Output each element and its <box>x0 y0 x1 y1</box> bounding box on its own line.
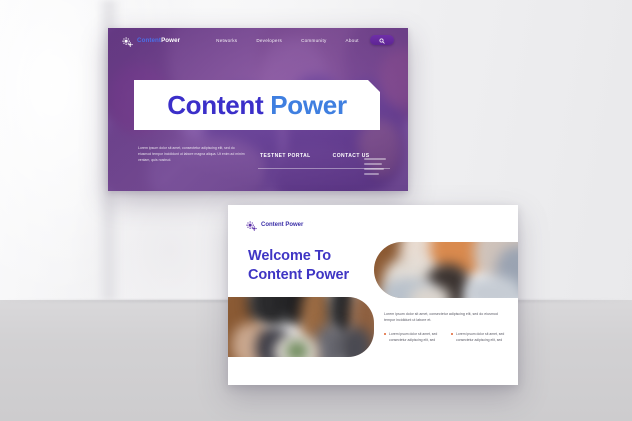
hero-title-banner: Content Power <box>134 80 380 130</box>
welcome-logo-text: Content Power <box>261 222 303 228</box>
hero-slide[interactable]: ContentPower Networks Developers Communi… <box>108 28 408 191</box>
hero-brand-word1: Content <box>137 37 161 44</box>
welcome-heading-line2: Content Power <box>248 266 349 285</box>
hero-title: Content Power <box>167 90 347 121</box>
bullet-dot-icon <box>451 333 453 335</box>
hero-title-word2: Power <box>270 90 347 120</box>
nav-link-developers[interactable]: Developers <box>256 38 282 43</box>
hero-brand[interactable]: ContentPower <box>122 35 180 46</box>
welcome-heading: Welcome To Content Power <box>248 247 349 284</box>
welcome-photo-left <box>228 297 374 357</box>
welcome-logo[interactable]: Content Power <box>246 219 303 230</box>
gear-icon <box>246 219 257 230</box>
nav-link-networks[interactable]: Networks <box>216 38 237 43</box>
hero-brand-word2: Power <box>161 37 180 44</box>
testnet-portal-link[interactable]: TESTNET PORTAL <box>260 153 311 159</box>
nav-link-community[interactable]: Community <box>301 38 326 43</box>
welcome-paragraph: Lorem ipsum dolor sit amet, consectetur … <box>384 311 504 324</box>
welcome-photo-right <box>374 242 518 298</box>
welcome-slide[interactable]: Content Power Welcome To Content Power <box>228 205 518 385</box>
bullet-text: Lorem ipsum dolor sit amet, sed consecte… <box>389 331 441 344</box>
welcome-bullet-list: Lorem ipsum dolor sit amet, sed consecte… <box>384 331 508 344</box>
list-item: Lorem ipsum dolor sit amet, sed consecte… <box>451 331 508 344</box>
nav-link-about[interactable]: About <box>346 38 359 43</box>
hero-body-text: Lorem ipsum dolor sit amet, consectetur … <box>138 146 246 163</box>
bullet-dot-icon <box>384 333 386 335</box>
bullet-text: Lorem ipsum dolor sit amet, sed consecte… <box>456 331 508 344</box>
list-item: Lorem ipsum dolor sit amet, sed consecte… <box>384 331 441 344</box>
hero-decorative-badge <box>360 154 390 184</box>
hero-nav-links: Networks Developers Community About <box>216 38 359 43</box>
hero-title-word1: Content <box>167 90 263 120</box>
search-button[interactable] <box>370 35 394 45</box>
welcome-heading-line1: Welcome To <box>248 247 349 266</box>
search-icon <box>379 31 385 49</box>
hero-navbar: ContentPower Networks Developers Communi… <box>108 28 408 52</box>
hero-brand-text: ContentPower <box>137 37 180 44</box>
gear-icon <box>122 35 133 46</box>
